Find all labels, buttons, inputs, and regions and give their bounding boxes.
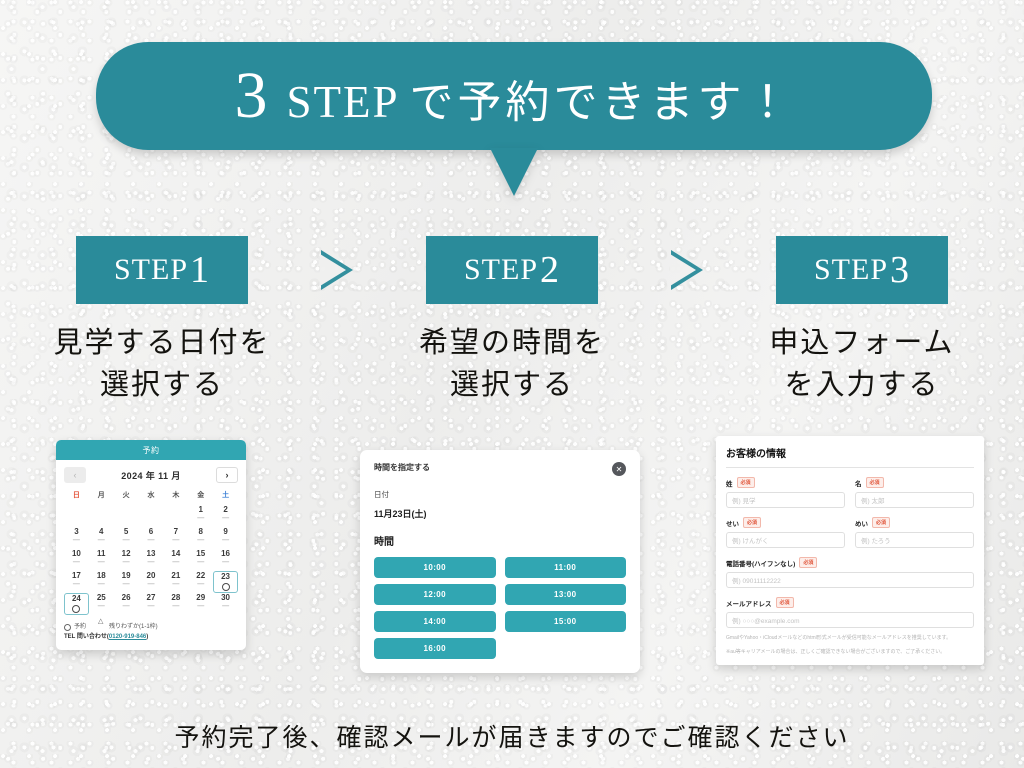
calendar-day-18: 18— [89, 571, 114, 593]
form-field-2: せい必須例) けんがく [726, 517, 845, 548]
calendar-day-number: 26 [114, 593, 139, 603]
form-field-5: メールアドレス必須例) ○○○@example.com [726, 597, 974, 628]
calendar-day-number: 7 [163, 527, 188, 537]
closed-dash-icon: — [89, 581, 114, 588]
calendar-day-number: 6 [139, 527, 164, 537]
step-1-description-line2: 選択する [53, 364, 270, 406]
calendar-day-number: 12 [114, 549, 139, 559]
form-note-line1: GmailやYahoo・iCloudメールなどのhtml形式メールが受信可能なメ… [726, 634, 974, 642]
calendar-weekday-月: 月 [89, 490, 114, 505]
step-3-description-line2: を入力する [769, 364, 954, 406]
calendar-day-11: 11— [89, 549, 114, 571]
calendar-day-number: 25 [89, 593, 114, 603]
step-1: STEP 1 見学する日付を 選択する [13, 236, 311, 406]
step-3-description: 申込フォーム を入力する [769, 322, 954, 406]
calendar-grid: 日月火水木金土1—2—3—4—5—6—7—8—9—10—11—12—13—14—… [64, 490, 238, 615]
calendar-day-30: 30— [213, 593, 238, 615]
calendar-header-title: 予約 [56, 440, 246, 460]
closed-dash-icon: — [213, 515, 238, 522]
closed-dash-icon: — [163, 603, 188, 610]
steps-row: STEP 1 見学する日付を 選択する STEP 2 希望の時間を 選択する S… [0, 236, 1024, 406]
calendar-day-23[interactable]: 23 [213, 571, 238, 593]
calendar-day-number: 21 [163, 571, 188, 581]
calendar-nav: ‹ 2024 年 11 月 › [64, 467, 238, 483]
form-field-label-0: 姓必須 [726, 477, 845, 488]
header-step-word: STEP [286, 76, 399, 128]
calendar-body: ‹ 2024 年 11 月 › 日月火水木金土1—2—3—4—5—6—7—8—9… [56, 460, 246, 650]
legend-few-label: 残りわずか(1-1枠) [109, 622, 158, 632]
closed-dash-icon: — [213, 559, 238, 566]
calendar-day-21: 21— [163, 571, 188, 593]
calendar-cell-empty [139, 505, 164, 527]
tel-suffix: ) [146, 634, 148, 640]
calendar-screenshot: 予約 ‹ 2024 年 11 月 › 日月火水木金土1—2—3—4—5—6—7—… [56, 440, 246, 650]
calendar-day-2: 2— [213, 505, 238, 527]
calendar-weekday-金: 金 [188, 490, 213, 505]
form-label-text: メールアドレス [726, 598, 772, 608]
calendar-legend: 予約 残りわずか(1-1枠) TEL 問い合わせ(0120-919-846) [64, 622, 238, 642]
closed-dash-icon: — [139, 603, 164, 610]
calendar-day-number: 2 [213, 505, 238, 515]
calendar-month-title: 2024 年 11 月 [121, 469, 180, 482]
step-1-description-line1: 見学する日付を [53, 322, 270, 364]
calendar-day-number: 8 [188, 527, 213, 537]
form-fields: 姓必須例) 見学名必須例) 太郎せい必須例) けんがくめい必須例) たろう電話番… [726, 477, 974, 628]
step-1-badge-label: STEP [114, 253, 188, 287]
calendar-next-button[interactable]: › [216, 467, 238, 483]
form-label-text: せい [726, 518, 739, 528]
step-2-badge-label: STEP [464, 253, 538, 287]
time-slot-1000[interactable]: 10:00 [374, 557, 496, 578]
triangle-icon [98, 624, 106, 631]
legend-available-label: 予約 [74, 622, 86, 632]
header-tagline: で予約できます！ [410, 66, 794, 130]
circle-icon [64, 624, 71, 631]
time-modal-screenshot: 時間を指定する ✕ 日付 11月23日(土) 時間 10:0011:0012:0… [360, 450, 640, 673]
calendar-prev-button[interactable]: ‹ [64, 467, 86, 483]
step-2-badge-number: 2 [540, 248, 560, 292]
time-slot-1500[interactable]: 15:00 [505, 611, 627, 632]
calendar-day-24[interactable]: 24 [64, 593, 89, 615]
calendar-day-14: 14— [163, 549, 188, 571]
calendar-day-number: 3 [64, 527, 89, 537]
calendar-cell-empty [163, 505, 188, 527]
closed-dash-icon: — [188, 559, 213, 566]
required-badge: 必須 [866, 477, 884, 488]
closed-dash-icon: — [114, 603, 139, 610]
step-2-description-line1: 希望の時間を [419, 322, 605, 364]
calendar-legend-row: 予約 残りわずか(1-1枠) [64, 622, 238, 632]
calendar-day-number: 18 [89, 571, 114, 581]
calendar-day-number: 19 [114, 571, 139, 581]
calendar-day-28: 28— [163, 593, 188, 615]
calendar-day-26: 26— [114, 593, 139, 615]
closed-dash-icon: — [64, 537, 89, 544]
calendar-day-10: 10— [64, 549, 89, 571]
time-slot-1600[interactable]: 16:00 [374, 638, 496, 659]
calendar-day-number: 15 [188, 549, 213, 559]
bubble-tail-icon [490, 148, 538, 196]
closed-dash-icon: — [114, 581, 139, 588]
tel-link[interactable]: 0120-919-846 [109, 634, 146, 640]
step-1-description: 見学する日付を 選択する [53, 322, 270, 406]
form-field-0: 姓必須例) 見学 [726, 477, 845, 508]
calendar-day-number: 29 [188, 593, 213, 603]
step-2-description: 希望の時間を 選択する [419, 322, 605, 406]
time-modal-time-label: 時間 [374, 533, 626, 548]
step-3-badge: STEP 3 [776, 236, 948, 304]
calendar-day-number: 4 [89, 527, 114, 537]
step-2-description-line2: 選択する [419, 364, 605, 406]
step-3-badge-label: STEP [814, 253, 888, 287]
required-badge: 必須 [799, 557, 817, 568]
calendar-day-number: 11 [89, 549, 114, 559]
form-title: お客様の情報 [726, 445, 974, 468]
step-3-badge-number: 3 [890, 248, 910, 292]
tel-prefix: TEL 問い合わせ( [64, 634, 109, 640]
time-slot-1100[interactable]: 11:00 [505, 557, 627, 578]
calendar-day-6: 6— [139, 527, 164, 549]
calendar-day-number: 20 [139, 571, 164, 581]
available-circle-icon [222, 583, 230, 591]
header-bubble: 3 STEP で予約できます！ [96, 42, 932, 150]
form-input-0[interactable]: 例) 見学 [726, 492, 845, 508]
calendar-day-9: 9— [213, 527, 238, 549]
closed-dash-icon: — [89, 603, 114, 610]
step-3-description-line1: 申込フォーム [769, 322, 954, 364]
calendar-day-number: 22 [188, 571, 213, 581]
calendar-weekday-日: 日 [64, 490, 89, 505]
form-label-text: 名 [855, 478, 862, 488]
closed-dash-icon: — [188, 603, 213, 610]
calendar-day-8: 8— [188, 527, 213, 549]
calendar-day-19: 19— [114, 571, 139, 593]
form-screenshot: お客様の情報 姓必須例) 見学名必須例) 太郎せい必須例) けんがくめい必須例)… [716, 436, 984, 665]
step-1-badge-number: 1 [190, 248, 210, 292]
calendar-tel-row: TEL 問い合わせ(0120-919-846) [64, 632, 238, 642]
closed-dash-icon: — [213, 603, 238, 610]
calendar-day-25: 25— [89, 593, 114, 615]
closed-dash-icon: — [213, 537, 238, 544]
calendar-day-16: 16— [213, 549, 238, 571]
calendar-day-number: 5 [114, 527, 139, 537]
calendar-day-22: 22— [188, 571, 213, 593]
calendar-day-number: 27 [139, 593, 164, 603]
form-row: メールアドレス必須例) ○○○@example.com [726, 597, 974, 628]
calendar-day-3: 3— [64, 527, 89, 549]
calendar-day-7: 7— [163, 527, 188, 549]
calendar-day-number: 23 [214, 572, 237, 582]
form-input-1[interactable]: 例) 太郎 [855, 492, 974, 508]
closed-dash-icon: — [163, 559, 188, 566]
calendar-day-number: 24 [65, 594, 88, 604]
header-bubble-body: 3 STEP で予約できます！ [96, 42, 932, 150]
time-slot-1200[interactable]: 12:00 [374, 584, 496, 605]
closed-dash-icon: — [64, 581, 89, 588]
closed-dash-icon: — [64, 559, 89, 566]
calendar-day-27: 27— [139, 593, 164, 615]
header-step-count: 3 [234, 63, 270, 129]
calendar-day-number: 30 [213, 593, 238, 603]
closed-dash-icon: — [163, 581, 188, 588]
available-circle-icon [72, 605, 80, 613]
closed-dash-icon: — [163, 537, 188, 544]
calendar-weekday-水: 水 [139, 490, 164, 505]
screenshot-row: 予約 ‹ 2024 年 11 月 › 日月火水木金土1—2—3—4—5—6—7—… [0, 432, 1024, 712]
calendar-day-number: 14 [163, 549, 188, 559]
time-modal-date-value: 11月23日(土) [374, 507, 626, 520]
closed-dash-icon: — [89, 559, 114, 566]
required-badge: 必須 [872, 517, 890, 528]
form-row: 電話番号(ハイフンなし)必須例) 09011112222 [726, 557, 974, 588]
closed-dash-icon: — [188, 537, 213, 544]
time-modal-header: 時間を指定する ✕ [374, 462, 626, 476]
closed-dash-icon: — [89, 537, 114, 544]
step-arrow-1-icon [311, 250, 363, 290]
step-2-badge: STEP 2 [426, 236, 598, 304]
closed-dash-icon: — [139, 559, 164, 566]
form-row: せい必須例) けんがくめい必須例) たろう [726, 517, 974, 548]
header-title: 3 STEP で予約できます！ [234, 63, 793, 130]
calendar-day-1: 1— [188, 505, 213, 527]
required-badge: 必須 [737, 477, 755, 488]
closed-dash-icon: — [139, 581, 164, 588]
calendar-weekday-土: 土 [213, 490, 238, 505]
calendar-weekday-木: 木 [163, 490, 188, 505]
bottom-caption: 予約完了後、確認メールが届きますのでご確認ください [0, 718, 1024, 754]
calendar-day-17: 17— [64, 571, 89, 593]
form-input-4[interactable]: 例) 09011112222 [726, 572, 974, 588]
close-icon[interactable]: ✕ [612, 462, 626, 476]
calendar-day-number: 28 [163, 593, 188, 603]
calendar-day-12: 12— [114, 549, 139, 571]
form-field-3: めい必須例) たろう [855, 517, 974, 548]
step-arrow-2-icon [661, 250, 713, 290]
time-modal-title: 時間を指定する [374, 462, 430, 473]
form-field-label-3: めい必須 [855, 517, 974, 528]
step-2: STEP 2 希望の時間を 選択する [363, 236, 661, 406]
form-label-text: 姓 [726, 478, 733, 488]
calendar-day-15: 15— [188, 549, 213, 571]
form-field-label-2: せい必須 [726, 517, 845, 528]
time-slot-grid: 10:0011:0012:0013:0014:0015:0016:00 [374, 557, 626, 659]
calendar-cell-empty [64, 505, 89, 527]
form-field-1: 名必須例) 太郎 [855, 477, 974, 508]
time-modal-date-label: 日付 [374, 489, 626, 500]
form-field-label-1: 名必須 [855, 477, 974, 488]
form-field-label-5: メールアドレス必須 [726, 597, 974, 608]
step-3: STEP 3 申込フォーム を入力する [713, 236, 1011, 406]
calendar-day-number: 17 [64, 571, 89, 581]
form-input-2[interactable]: 例) けんがく [726, 532, 845, 548]
form-row: 姓必須例) 見学名必須例) 太郎 [726, 477, 974, 508]
closed-dash-icon: — [114, 559, 139, 566]
calendar-day-number: 10 [64, 549, 89, 559]
calendar-day-number: 9 [213, 527, 238, 537]
form-input-3[interactable]: 例) たろう [855, 532, 974, 548]
form-field-4: 電話番号(ハイフンなし)必須例) 09011112222 [726, 557, 974, 588]
time-slot-1300[interactable]: 13:00 [505, 584, 627, 605]
closed-dash-icon: — [188, 515, 213, 522]
calendar-day-13: 13— [139, 549, 164, 571]
form-input-5[interactable]: 例) ○○○@example.com [726, 612, 974, 628]
poster-stage: 3 STEP で予約できます！ STEP 1 見学する日付を 選択する STEP… [0, 0, 1024, 768]
form-label-text: めい [855, 518, 868, 528]
calendar-day-5: 5— [114, 527, 139, 549]
calendar-day-number: 13 [139, 549, 164, 559]
closed-dash-icon: — [139, 537, 164, 544]
calendar-weekday-火: 火 [114, 490, 139, 505]
calendar-cell-empty [89, 505, 114, 527]
calendar-day-number: 1 [188, 505, 213, 515]
closed-dash-icon: — [188, 581, 213, 588]
calendar-day-29: 29— [188, 593, 213, 615]
form-field-label-4: 電話番号(ハイフンなし)必須 [726, 557, 974, 568]
calendar-day-20: 20— [139, 571, 164, 593]
required-badge: 必須 [743, 517, 761, 528]
calendar-cell-empty [114, 505, 139, 527]
form-label-text: 電話番号(ハイフンなし) [726, 558, 795, 568]
calendar-day-number: 16 [213, 549, 238, 559]
calendar-day-4: 4— [89, 527, 114, 549]
step-1-badge: STEP 1 [76, 236, 248, 304]
form-note-line2: ※au等キャリアメールの場合は、正しくご確認できない場合がございますので、ご了承… [726, 648, 974, 656]
time-slot-1400[interactable]: 14:00 [374, 611, 496, 632]
closed-dash-icon: — [114, 537, 139, 544]
required-badge: 必須 [776, 597, 794, 608]
